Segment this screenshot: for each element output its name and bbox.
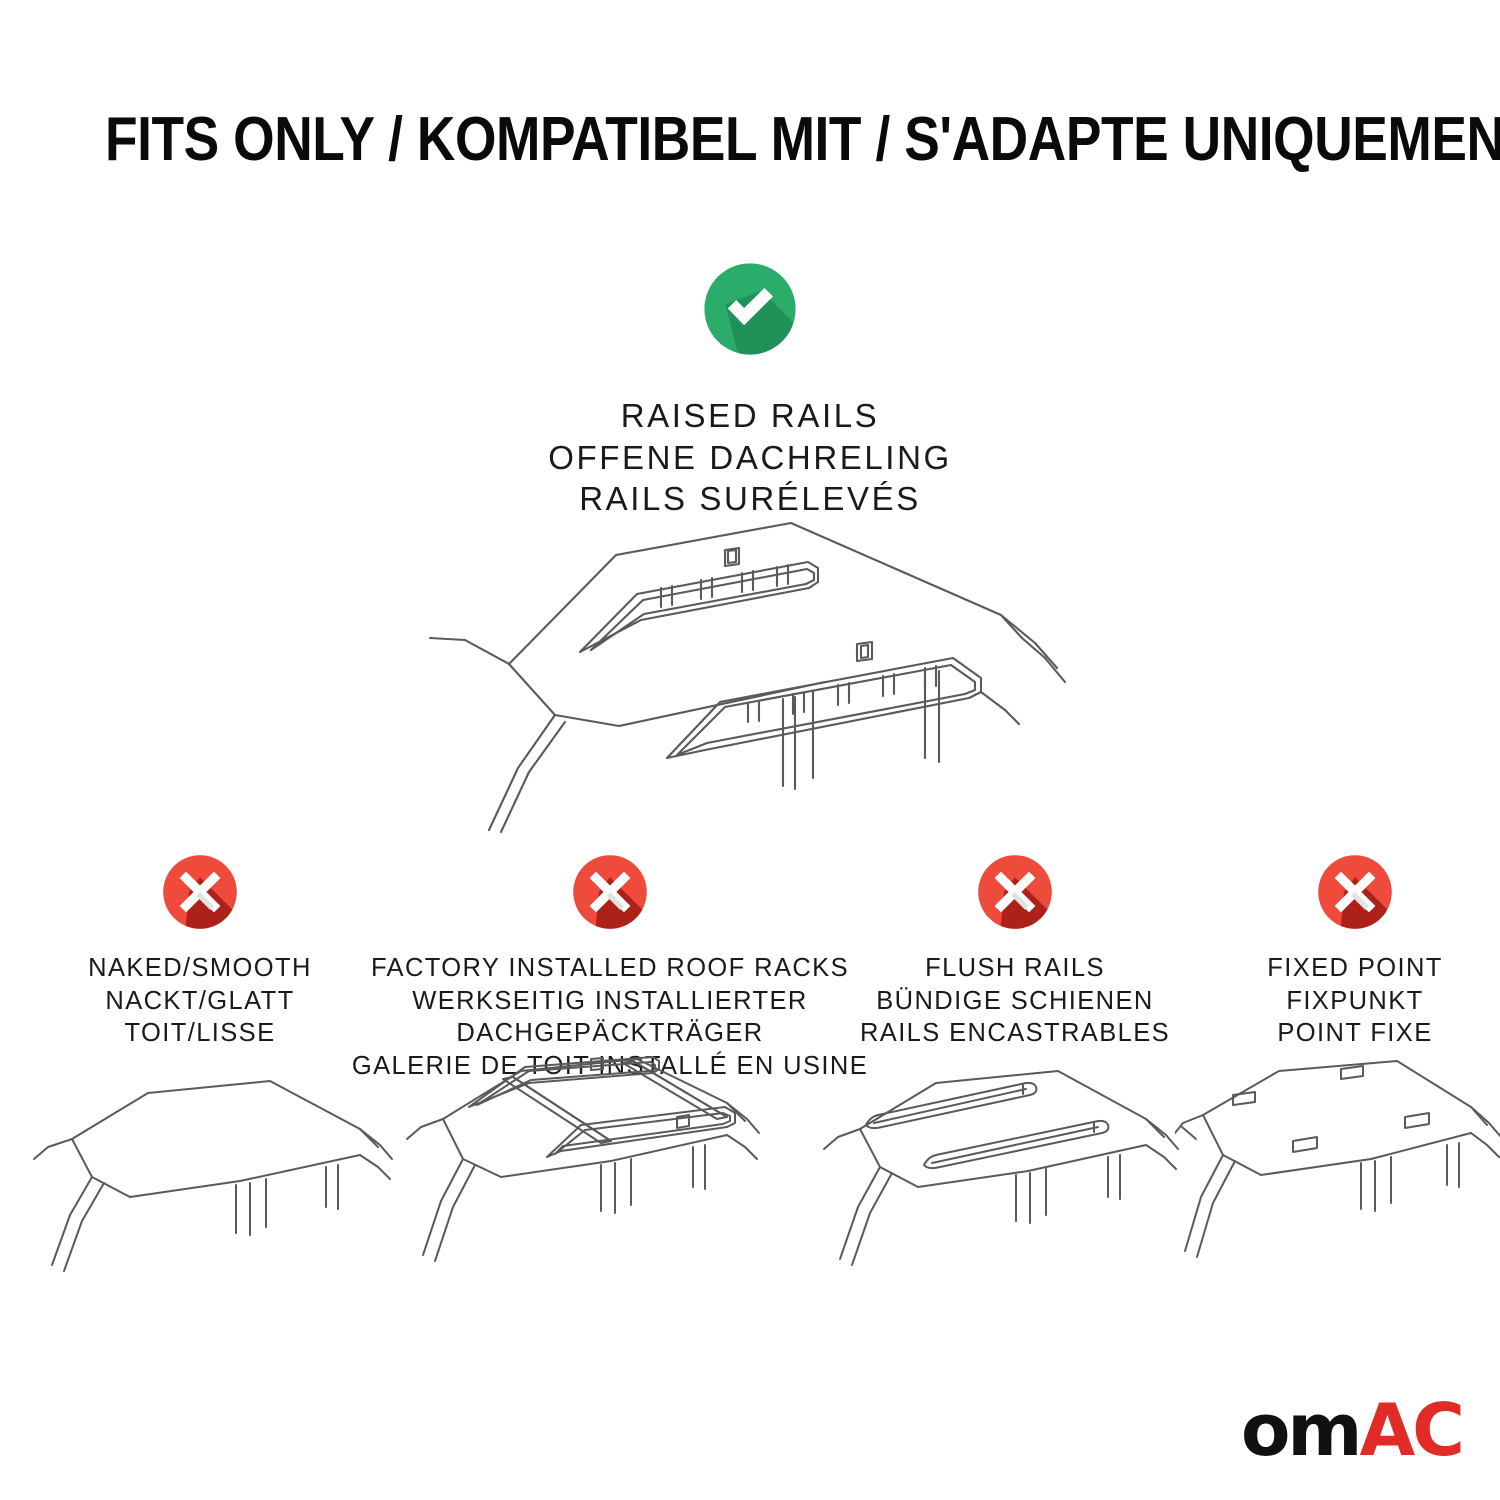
car-roof-with-fixed-points-illustration (1175, 1055, 1500, 1305)
incompatible-item-flush-rails: FLUSH RAILS BÜNDIGE SCHIENEN RAILS ENCAS… (820, 846, 1210, 1050)
x-circle-icon (969, 846, 1061, 938)
incompatible-label-de: BÜNDIGE SCHIENEN (860, 985, 1170, 1018)
incompatible-label-fr: TOIT/LISSE (88, 1017, 312, 1050)
compatible-label-en: RAISED RAILS (0, 395, 1500, 437)
incompatible-section: NAKED/SMOOTH NACKT/GLATT TOIT/LISSE FACT… (0, 846, 1500, 1083)
incompatible-label-en: FIXED POINT (1267, 952, 1443, 985)
page-title: FITS ONLY / KOMPATIBEL MIT / S'ADAPTE UN… (105, 104, 1395, 175)
car-roof-with-raised-rails-illustration (405, 510, 1095, 840)
logo-text-red: AC (1359, 1388, 1462, 1472)
compatible-section: RAISED RAILS OFFENE DACHRELING RAILS SUR… (0, 252, 1500, 520)
incompatible-label-de: NACKT/GLATT (88, 985, 312, 1018)
compatible-label-de: OFFENE DACHRELING (0, 437, 1500, 479)
incompatible-label-en: NAKED/SMOOTH (88, 952, 312, 985)
x-circle-icon (154, 846, 246, 938)
incompatible-label-de-2: DACHGEPÄCKTRÄGER (352, 1017, 868, 1050)
incompatible-label-en: FLUSH RAILS (860, 952, 1170, 985)
car-roof-with-flush-rails-illustration (820, 1055, 1200, 1305)
compatible-caption: RAISED RAILS OFFENE DACHRELING RAILS SUR… (0, 395, 1500, 520)
incompatible-label-de: FIXPUNKT (1267, 985, 1443, 1018)
car-roof-with-factory-crossbars-illustration (405, 1055, 785, 1305)
incompatible-caption: FLUSH RAILS BÜNDIGE SCHIENEN RAILS ENCAS… (860, 952, 1170, 1050)
check-circle-icon (693, 252, 807, 366)
incompatible-label-fr: POINT FIXE (1267, 1017, 1443, 1050)
incompatible-label-de-1: WERKSEITIG INSTALLIERTER (352, 985, 868, 1018)
x-circle-icon (1309, 846, 1401, 938)
incompatible-item-fixed-point: FIXED POINT FIXPUNKT POINT FIXE (1210, 846, 1500, 1050)
incompatible-caption: FIXED POINT FIXPUNKT POINT FIXE (1267, 952, 1443, 1050)
incompatible-item-naked-smooth: NAKED/SMOOTH NACKT/GLATT TOIT/LISSE (0, 846, 400, 1050)
incompatible-label-fr: RAILS ENCASTRABLES (860, 1017, 1170, 1050)
logo-text-dark: om (1241, 1388, 1360, 1472)
car-roof-bare-illustration (30, 1055, 400, 1305)
incompatible-item-factory-roof-racks: FACTORY INSTALLED ROOF RACKS WERKSEITIG … (400, 846, 820, 1083)
incompatible-illustrations (0, 1055, 1500, 1305)
omac-logo: omAC (1241, 1394, 1462, 1466)
incompatible-label-en: FACTORY INSTALLED ROOF RACKS (352, 952, 868, 985)
incompatible-caption: NAKED/SMOOTH NACKT/GLATT TOIT/LISSE (88, 952, 312, 1050)
x-circle-icon (564, 846, 656, 938)
